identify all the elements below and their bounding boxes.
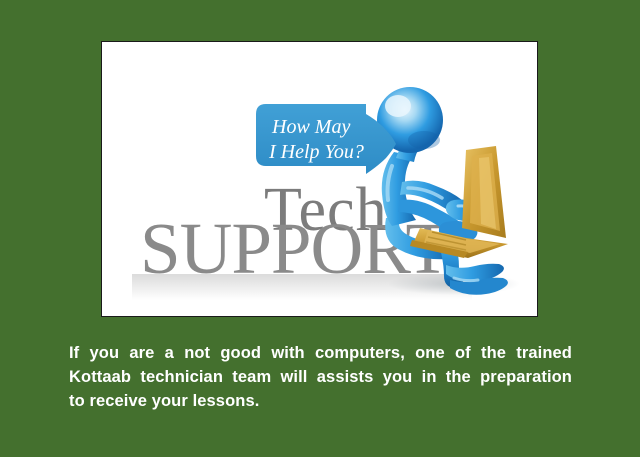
caption-text: If you are a not good with computers, on… xyxy=(69,341,572,413)
tech-support-illustration: Tech SUPPORT xyxy=(102,42,538,317)
slide-canvas: Tech SUPPORT xyxy=(0,0,640,457)
speech-bubble-line1: How May xyxy=(271,116,350,138)
caption-line-3: to receive your lessons. xyxy=(69,389,572,413)
illustration-card: Tech SUPPORT xyxy=(101,41,538,317)
speech-bubble: How May I Help You? xyxy=(256,104,396,174)
speech-bubble-line2: I Help You? xyxy=(268,141,364,163)
caption-line-1: If you are a not good with computers, on… xyxy=(69,341,572,365)
caption-line-2: Kottaab technician team will assists you… xyxy=(69,365,572,389)
